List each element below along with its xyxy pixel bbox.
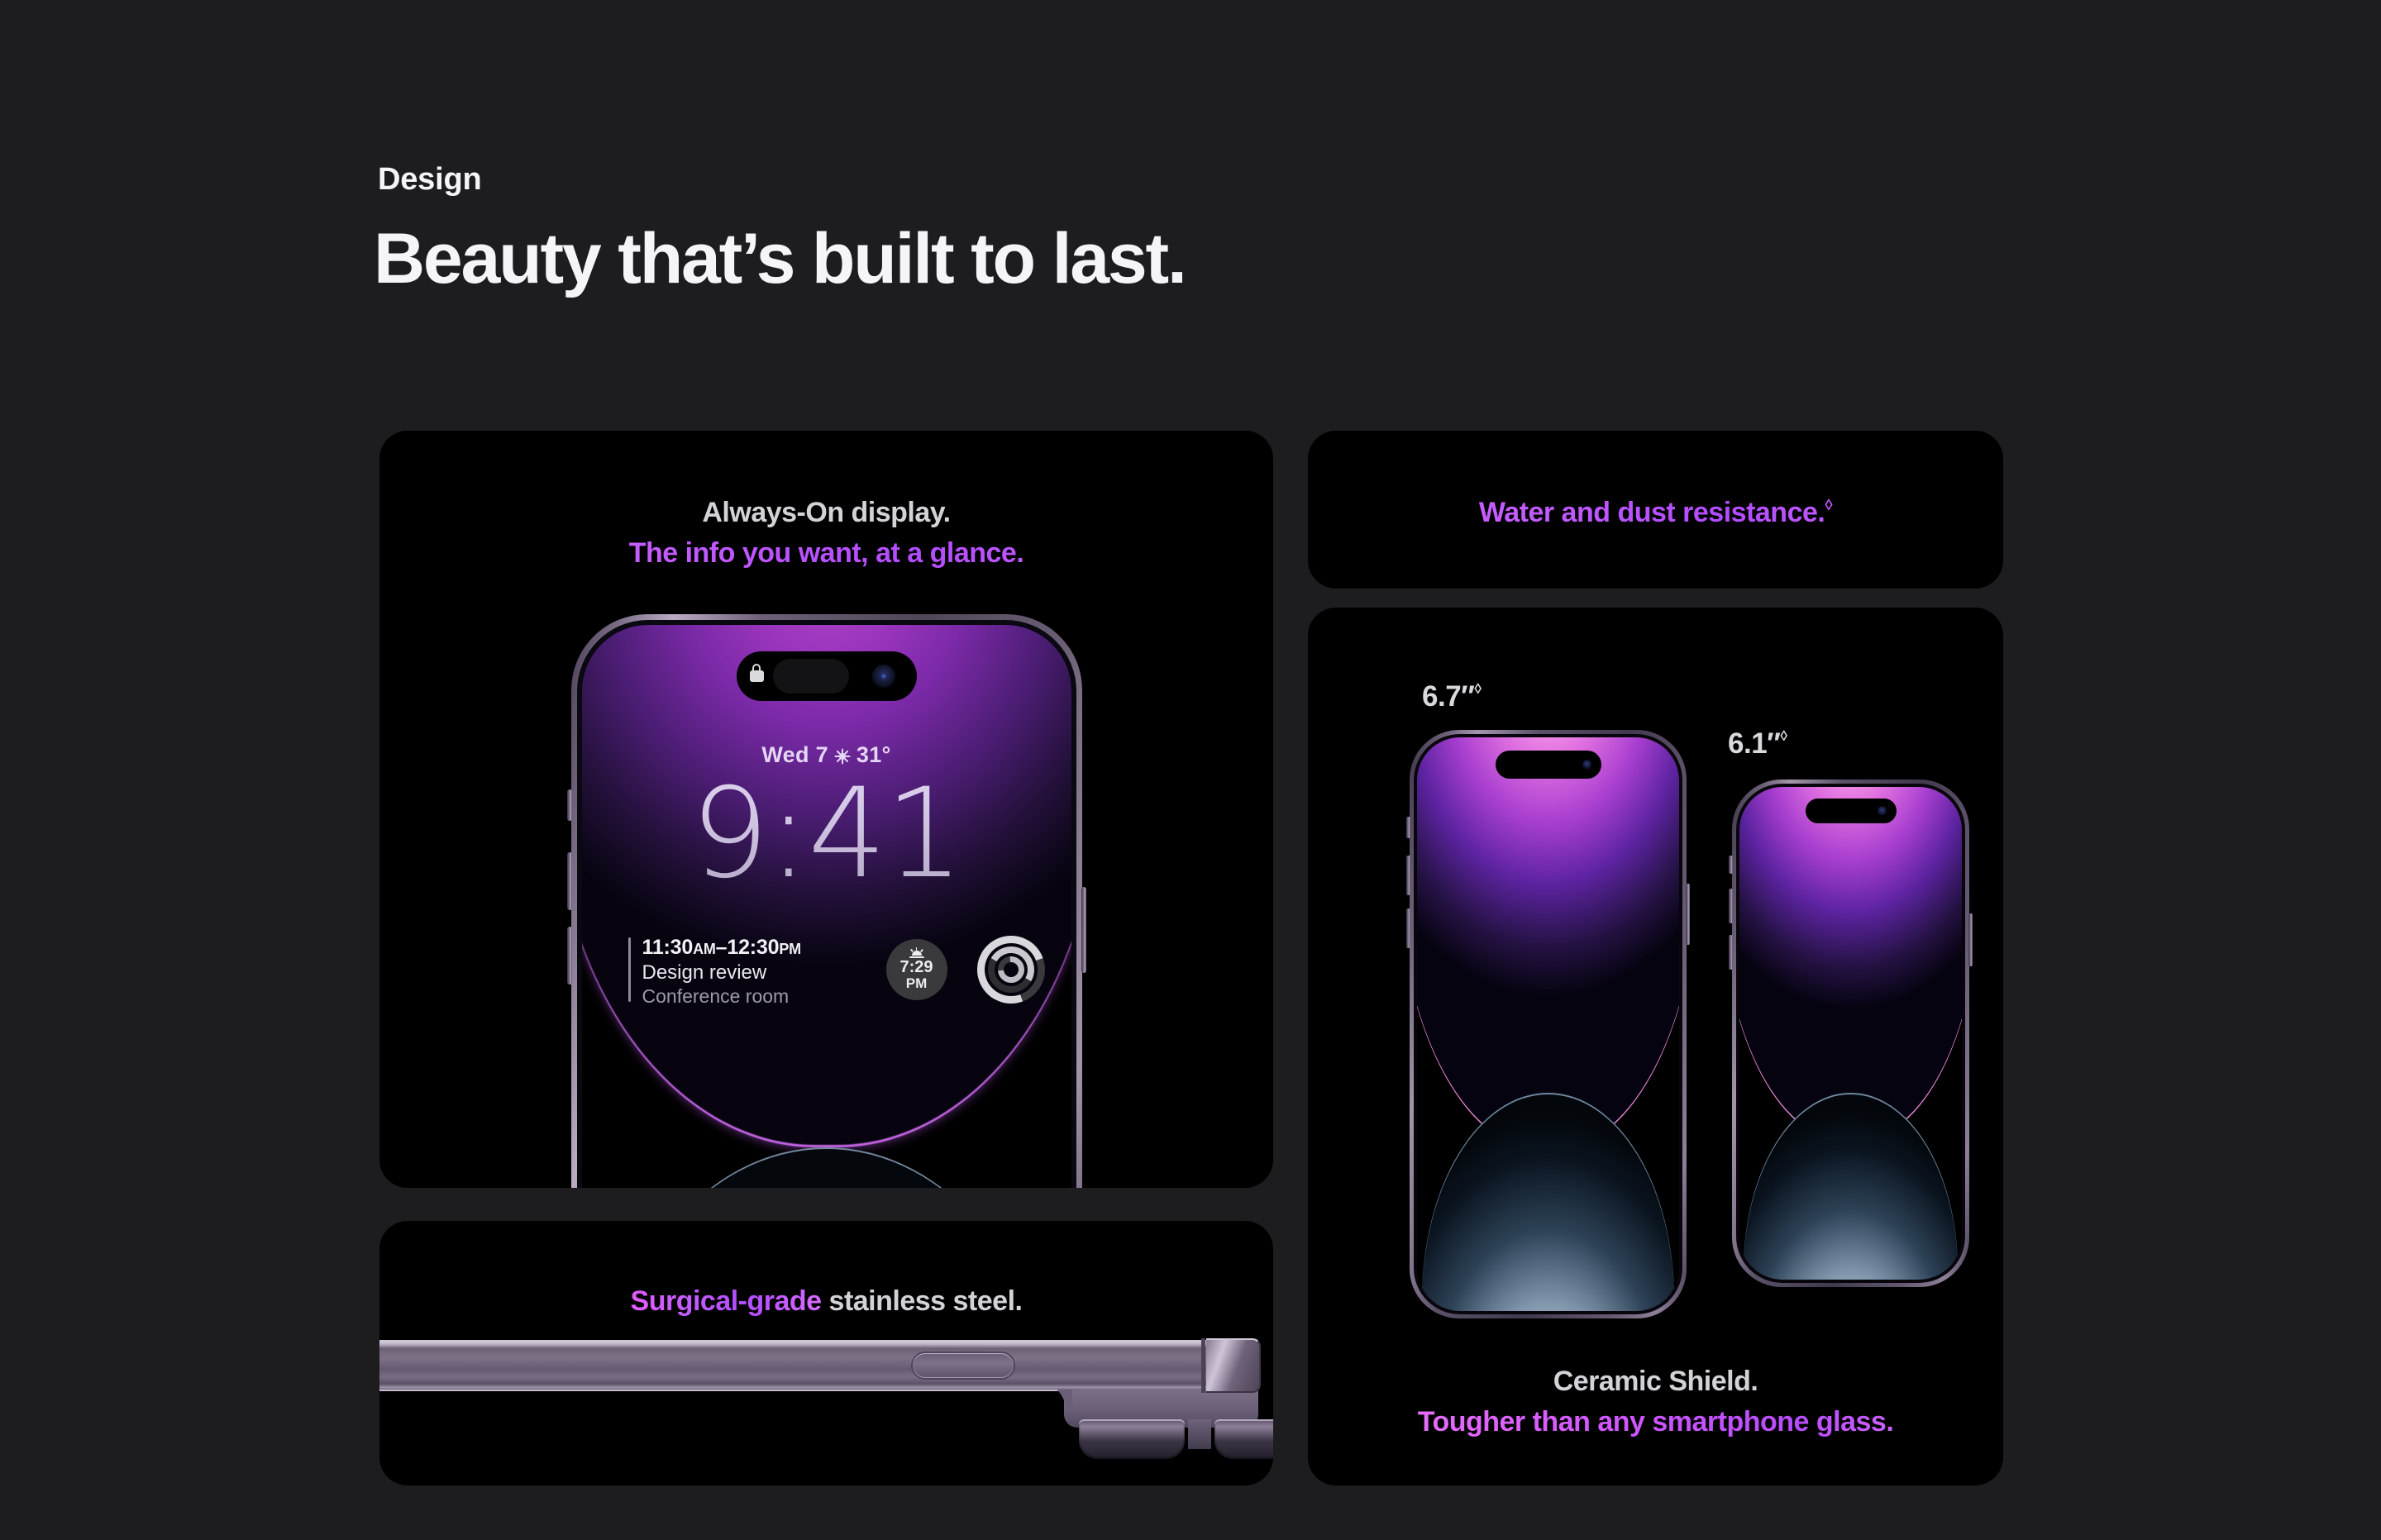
phone-bezel: Wed 731° 9:41 11:30AM–12:30PM Design rev… bbox=[577, 620, 1076, 1188]
ceramic-shield-caption-line1: Ceramic Shield. bbox=[1308, 1363, 2003, 1399]
side-button bbox=[1686, 884, 1690, 945]
volume-down-button bbox=[1729, 935, 1733, 970]
lockscreen-widgets: 11:30AM–12:30PM Design review Conference… bbox=[628, 936, 1032, 1007]
event-time: 11:30AM–12:30PM bbox=[642, 936, 801, 960]
design-section: Design Beauty that’s built to last. Alwa… bbox=[0, 0, 2381, 1540]
wallpaper-bottom-dome bbox=[1422, 1093, 1673, 1311]
sunset-time: 7:29 bbox=[899, 959, 933, 976]
size-footnote-6-7: ◊ bbox=[1474, 680, 1481, 697]
card-ceramic-shield[interactable]: 6.7″◊ 6.1″◊ bbox=[1308, 608, 2003, 1485]
wallpaper-top-dome bbox=[1739, 787, 1962, 1142]
phone-screen bbox=[1739, 787, 1962, 1280]
page-title: Beauty that’s built to last. bbox=[374, 222, 1186, 296]
volume-down-button bbox=[1406, 908, 1410, 948]
card-always-on-display[interactable]: Always-On display. The info you want, at… bbox=[379, 431, 1273, 1188]
activity-rings-icon[interactable] bbox=[977, 936, 1045, 1004]
wallpaper-bottom-dome bbox=[1744, 1093, 1957, 1280]
volume-down-button bbox=[567, 927, 572, 985]
dynamic-island bbox=[1806, 799, 1897, 823]
ceramic-shield-caption-line2: Tougher than any smartphone glass. bbox=[1308, 1404, 2003, 1440]
size-footnote-6-1: ◊ bbox=[1780, 727, 1787, 744]
phone-screen bbox=[1417, 737, 1679, 1311]
card-stainless-steel[interactable]: Surgical-grade stainless steel. bbox=[379, 1221, 1273, 1485]
phone-screen: Wed 731° 9:41 11:30AM–12:30PM Design rev… bbox=[582, 625, 1071, 1188]
front-camera-icon bbox=[872, 665, 895, 688]
always-on-caption: Always-On display. The info you want, at… bbox=[379, 494, 1273, 571]
camera-lens-2 bbox=[1214, 1419, 1273, 1459]
volume-button-profile bbox=[913, 1353, 1014, 1378]
steel-side-rail bbox=[379, 1340, 1211, 1391]
mute-switch bbox=[1406, 817, 1410, 838]
size-label-6-1: 6.1″◊ bbox=[1728, 727, 1787, 760]
camera-lens-1 bbox=[1079, 1419, 1185, 1459]
sunset-icon bbox=[909, 947, 925, 958]
dynamic-island bbox=[737, 651, 917, 701]
always-on-caption-line2: The info you want, at a glance. bbox=[379, 535, 1273, 571]
ceramic-shield-caption: Ceramic Shield. Tougher than any smartph… bbox=[1308, 1363, 2003, 1440]
phone-bezel bbox=[1414, 734, 1682, 1314]
wallpaper-bottom-dome bbox=[601, 1147, 1052, 1188]
iphone-side-profile-image bbox=[379, 1221, 1273, 1485]
iphone-always-on-mockup: Wed 731° 9:41 11:30AM–12:30PM Design rev… bbox=[571, 614, 1082, 1188]
side-button bbox=[1081, 887, 1086, 973]
volume-up-button bbox=[1729, 889, 1733, 923]
volume-up-button bbox=[567, 852, 572, 910]
lock-icon bbox=[750, 670, 764, 682]
water-dust-caption-text: Water and dust resistance. bbox=[1479, 497, 1825, 528]
calendar-event-widget[interactable]: 11:30AM–12:30PM Design review Conference… bbox=[628, 936, 801, 1008]
mute-switch bbox=[567, 789, 572, 821]
size-value-6-7: 6.7 bbox=[1422, 680, 1461, 713]
steel-corner-segment bbox=[1206, 1338, 1261, 1393]
size-value-6-1: 6.1 bbox=[1728, 727, 1767, 760]
size-unit-6-1: ″ bbox=[1767, 727, 1780, 760]
footnote-marker: ◊ bbox=[1825, 496, 1832, 513]
mute-switch bbox=[1729, 856, 1733, 874]
wallpaper-top-dome bbox=[1417, 737, 1679, 1151]
camera-lens-divider bbox=[1188, 1419, 1211, 1449]
iphone-61-mockup bbox=[1732, 780, 1969, 1287]
section-eyebrow: Design bbox=[378, 162, 482, 198]
side-button bbox=[1968, 913, 1973, 966]
event-title: Design review bbox=[642, 961, 801, 985]
island-pill bbox=[773, 659, 849, 694]
volume-up-button bbox=[1406, 856, 1410, 895]
lock-shackle bbox=[752, 664, 761, 673]
always-on-caption-line1: Always-On display. bbox=[379, 494, 1273, 531]
water-dust-caption: Water and dust resistance.◊ bbox=[1308, 494, 2003, 531]
phone-bezel bbox=[1736, 784, 1965, 1283]
size-label-6-7: 6.7″◊ bbox=[1422, 680, 1482, 713]
size-unit-6-7: ″ bbox=[1461, 680, 1474, 713]
iphone-67-mockup bbox=[1410, 730, 1687, 1318]
dynamic-island bbox=[1496, 751, 1601, 779]
sunset-meridiem: PM bbox=[906, 976, 928, 992]
event-location: Conference room bbox=[642, 985, 801, 1008]
sunset-widget[interactable]: 7:29 PM bbox=[886, 939, 947, 1000]
lockscreen-clock: 9:41 bbox=[582, 772, 1071, 896]
card-water-dust-resistance[interactable]: Water and dust resistance.◊ bbox=[1308, 431, 2003, 589]
